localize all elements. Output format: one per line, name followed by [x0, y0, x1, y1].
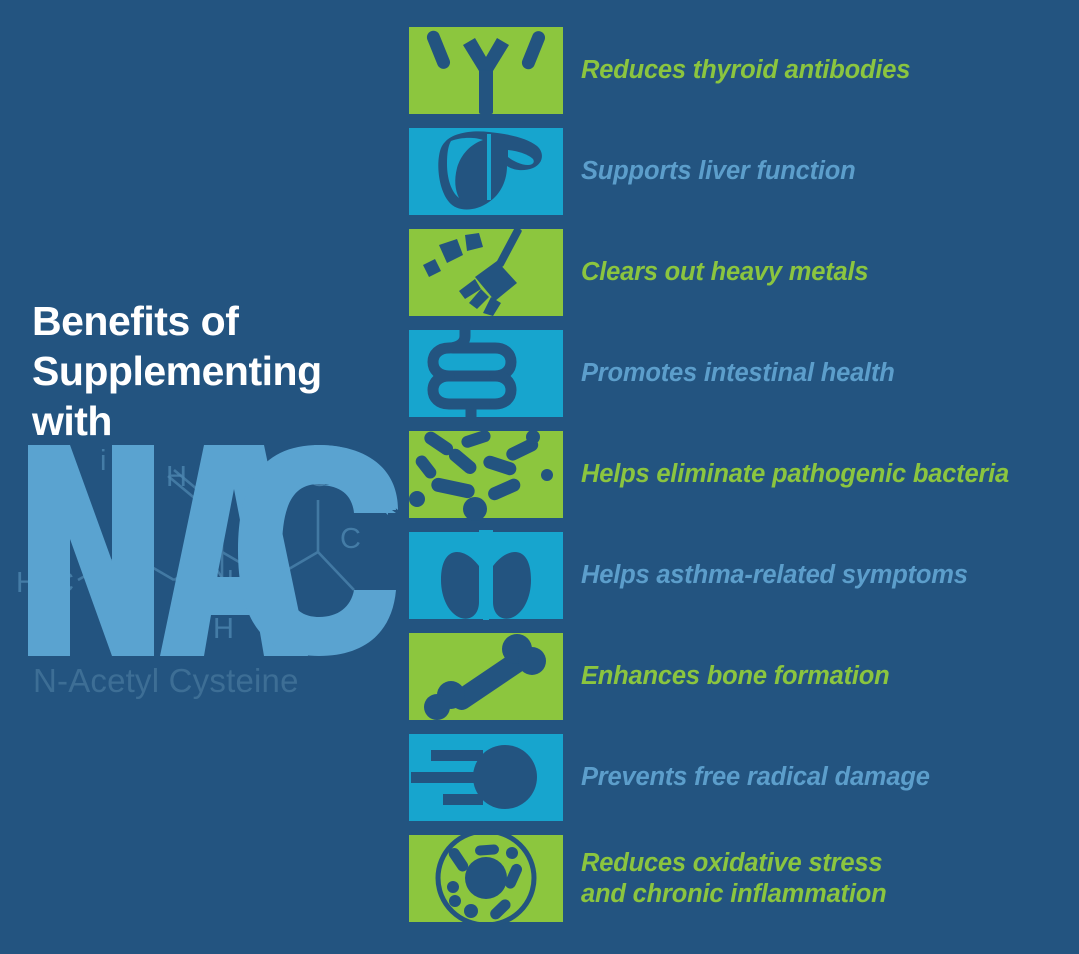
benefit-label: Prevents free radical damage	[581, 734, 930, 821]
bone-icon	[409, 633, 563, 720]
left-panel: Benefits of Supplementing with H3C H N H…	[0, 0, 400, 954]
benefit-label: Promotes intestinal health	[581, 330, 895, 417]
benefit-label: Enhances bone formation	[581, 633, 890, 720]
nac-wordmark	[26, 443, 398, 658]
benefit-row[interactable]: Reduces oxidative stress and chronic inf…	[409, 835, 1079, 922]
antibody-icon	[409, 27, 563, 114]
page-title-line-3: with	[32, 396, 392, 446]
benefit-row[interactable]: Helps eliminate pathogenic bacteria	[409, 431, 1079, 518]
benefit-label: Helps asthma-related symptoms	[581, 532, 968, 619]
liver-icon	[409, 128, 563, 215]
benefit-label: Helps eliminate pathogenic bacteria	[581, 431, 1009, 518]
benefit-label: Reduces oxidative stress and chronic inf…	[581, 835, 886, 922]
benefit-row[interactable]: Prevents free radical damage	[409, 734, 1079, 821]
benefit-row[interactable]: Helps asthma-related symptoms	[409, 532, 1079, 619]
page-title-line-2: Supplementing	[32, 346, 392, 396]
cell-icon	[409, 835, 563, 922]
benefit-row[interactable]: Enhances bone formation	[409, 633, 1079, 720]
benefit-row[interactable]: Clears out heavy metals	[409, 229, 1079, 316]
benefit-label: Supports liver function	[581, 128, 856, 215]
bacteria-icon	[409, 431, 563, 518]
broom-icon	[409, 229, 563, 316]
page-title: Benefits of Supplementing with	[32, 296, 392, 446]
page-title-line-1: Benefits of	[32, 296, 392, 346]
benefit-row[interactable]: Reduces thyroid antibodies	[409, 27, 1079, 114]
benefit-label: Reduces thyroid antibodies	[581, 27, 910, 114]
benefit-row[interactable]: Supports liver function	[409, 128, 1079, 215]
intestine-icon	[409, 330, 563, 417]
nac-subtitle: N-Acetyl Cysteine	[33, 662, 299, 700]
lungs-icon	[409, 532, 563, 619]
infographic-page: { "colors": { "background": "#235480", "…	[0, 0, 1079, 954]
benefit-list: Reduces thyroid antibodies Supports live…	[409, 27, 1079, 936]
benefit-label: Clears out heavy metals	[581, 229, 868, 316]
free-radical-icon	[409, 734, 563, 821]
benefit-row[interactable]: Promotes intestinal health	[409, 330, 1079, 417]
